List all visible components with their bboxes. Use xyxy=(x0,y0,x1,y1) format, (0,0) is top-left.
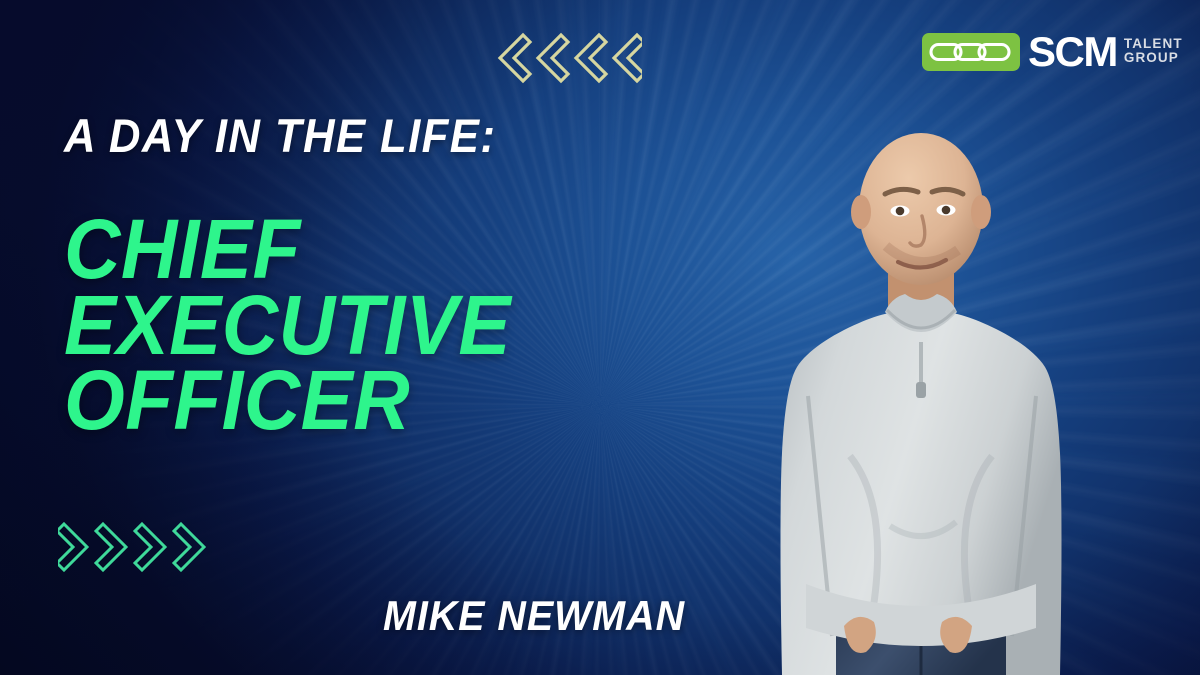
role-line-1: CHIEF xyxy=(64,212,511,288)
eyebrow-title: A DAY IN THE LIFE: xyxy=(64,108,496,163)
scm-talent-group-logo[interactable]: SCM TALENT GROUP xyxy=(922,28,1183,76)
subject-name: MIKE NEWMAN xyxy=(383,592,685,640)
video-thumbnail-card: SCM TALENT GROUP xyxy=(0,0,1200,675)
role-line-3: OFFICER xyxy=(64,363,511,439)
top-chevron-group xyxy=(492,30,642,91)
logo-scm-text: SCM xyxy=(1028,33,1117,72)
chevron-right-icon xyxy=(58,518,218,576)
logo-tagline: TALENT GROUP xyxy=(1124,33,1183,66)
bottom-chevron-group xyxy=(58,518,218,581)
chevron-left-icon xyxy=(492,30,642,86)
logo-tagline-line1: TALENT xyxy=(1124,37,1183,52)
logo-tagline-line2: GROUP xyxy=(1124,51,1183,66)
role-line-2: EXECUTIVE xyxy=(64,288,511,364)
chain-links-icon xyxy=(922,33,1020,71)
role-title: CHIEF EXECUTIVE OFFICER xyxy=(64,212,511,439)
logo-wordmark: SCM TALENT GROUP xyxy=(1028,33,1183,72)
